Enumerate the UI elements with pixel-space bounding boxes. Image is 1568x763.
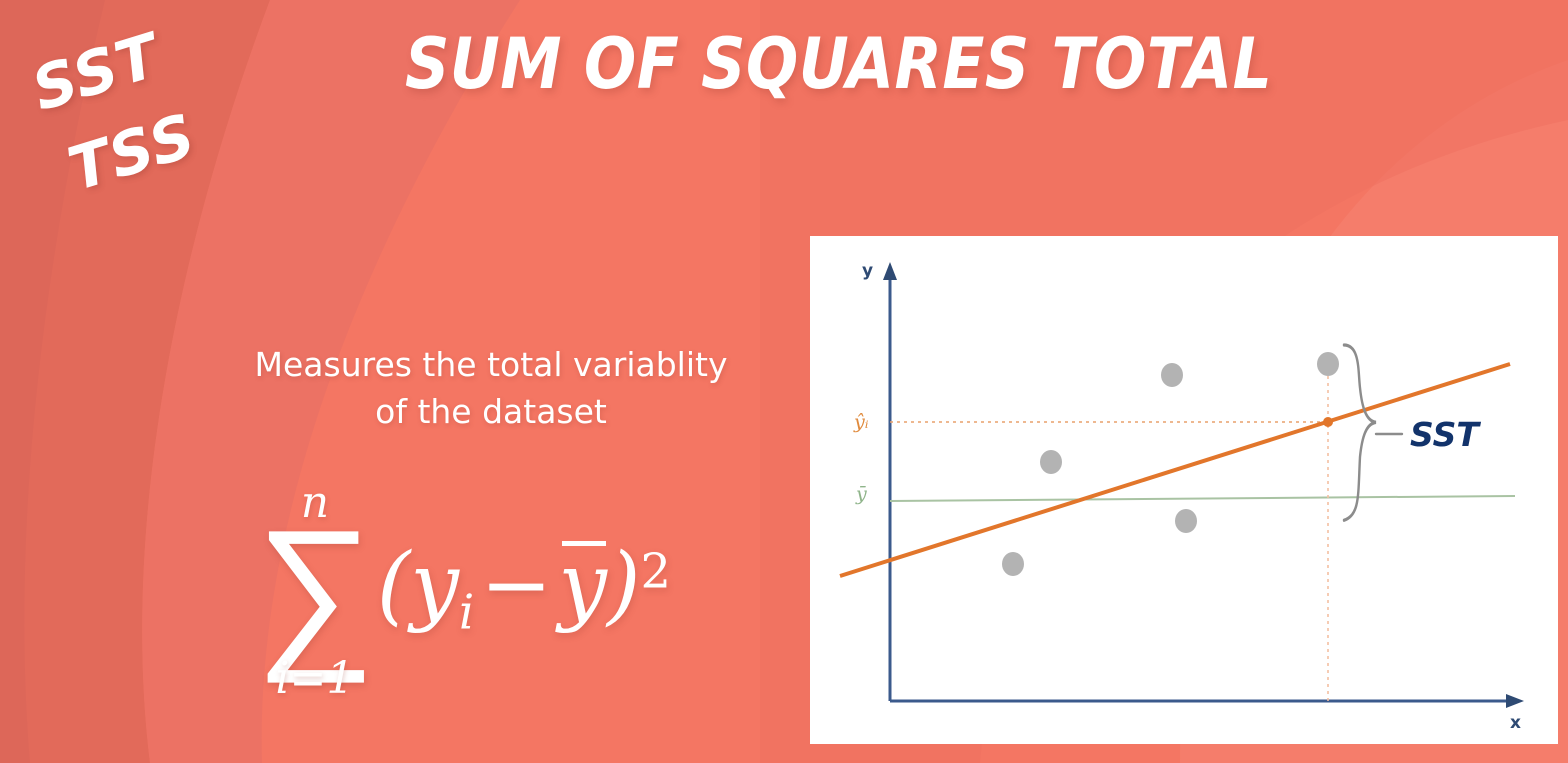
formula-block: n ∑ i=1 (yi−y)2 <box>255 466 725 716</box>
corner-tag: SST TSS <box>24 26 254 226</box>
formula-expression: (yi−y)2 <box>377 535 671 640</box>
chart-card: y x ȳ ŷᵢ <box>810 236 1558 744</box>
sst-annotation-label: SST <box>1410 415 1481 454</box>
formula-term-y: y <box>410 535 459 635</box>
chart-background <box>810 236 1558 744</box>
corner-tag-line-2: TSS <box>61 101 204 205</box>
formula-exponent: 2 <box>641 544 672 600</box>
y-bar-tick-label: ȳ <box>855 483 867 505</box>
formula-operator: − <box>474 535 558 635</box>
fitted-value-marker <box>1323 417 1333 427</box>
y-axis-label: y <box>862 261 873 281</box>
summation-lower-limit: i=1 <box>275 657 354 701</box>
formula-term-y-subscript: i <box>459 585 474 641</box>
x-axis-label: x <box>1510 713 1521 733</box>
data-point <box>1002 552 1024 576</box>
sigma-icon: ∑ <box>255 521 375 659</box>
data-point <box>1040 450 1062 474</box>
formula-term-ybar: y <box>558 535 607 635</box>
description-line-1: Measures the total variablity <box>196 342 786 389</box>
description-text: Measures the total variablity of the dat… <box>196 342 786 436</box>
formula-close-paren: ) <box>607 535 641 635</box>
description-line-2: of the dataset <box>196 389 786 436</box>
page-title: SUM OF SQUARES TOTAL <box>405 28 1109 102</box>
data-point <box>1161 363 1183 387</box>
corner-tag-line-1: SST <box>25 21 168 125</box>
data-point <box>1175 509 1197 533</box>
formula-open-paren: ( <box>377 535 411 635</box>
y-hat-i-tick-label: ŷᵢ <box>853 411 869 433</box>
scatter-chart: y x ȳ ŷᵢ <box>810 236 1558 744</box>
slide-canvas: SST TSS SUM OF SQUARES TOTAL Measures th… <box>0 0 1568 763</box>
data-point <box>1317 352 1339 376</box>
summation-operator: n ∑ i=1 <box>255 481 375 701</box>
